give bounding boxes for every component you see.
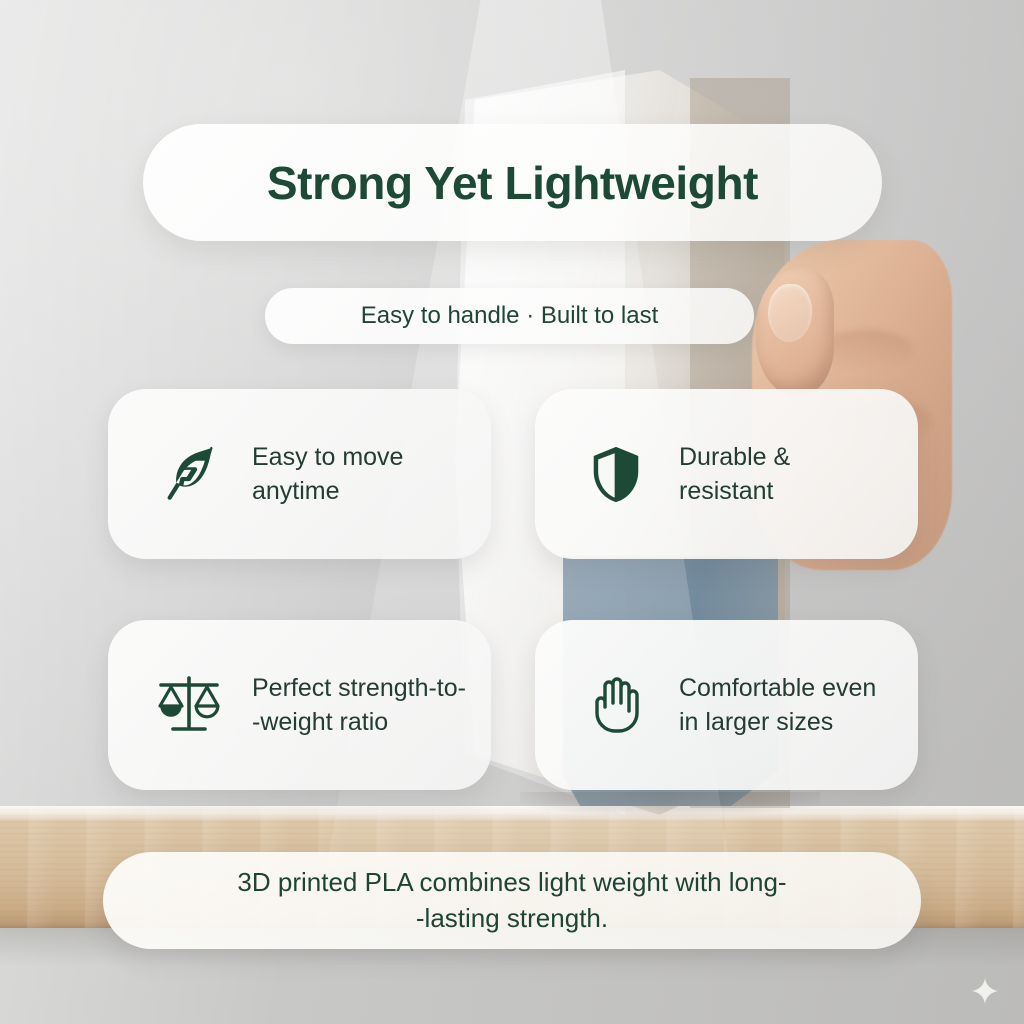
shelf-top-highlight xyxy=(0,806,1024,820)
feather-icon xyxy=(152,437,226,511)
feature-card-strength-to-weight[interactable]: Perfect strength-to- -weight ratio xyxy=(108,620,491,790)
infographic-canvas: Strong Yet Lightweight Easy to handle · … xyxy=(0,0,1024,1024)
feature-card-label: Comfortable even in larger sizes xyxy=(679,671,876,740)
feature-card-label: Perfect strength-to- -weight ratio xyxy=(252,671,466,740)
feature-card-durable[interactable]: Durable & resistant xyxy=(535,389,918,559)
feature-card-label: Durable & resistant xyxy=(679,440,790,509)
sparkle-icon xyxy=(972,978,998,1004)
footer-caption-banner: 3D printed PLA combines light weight wit… xyxy=(103,852,921,949)
feature-card-label: Easy to move anytime xyxy=(252,440,403,509)
feature-card-grid: Easy to move anytime Durable & resistant xyxy=(108,389,918,790)
page-subtitle: Easy to handle · Built to last xyxy=(361,302,659,330)
subtitle-banner: Easy to handle · Built to last xyxy=(265,288,754,344)
page-title: Strong Yet Lightweight xyxy=(267,156,758,210)
footer-caption: 3D printed PLA combines light weight wit… xyxy=(237,865,786,935)
feature-card-easy-to-move[interactable]: Easy to move anytime xyxy=(108,389,491,559)
shield-icon xyxy=(579,437,653,511)
hand-icon xyxy=(579,668,653,742)
printed-object-contact-shadow xyxy=(520,792,820,818)
balance-scale-icon xyxy=(152,668,226,742)
feature-card-comfortable[interactable]: Comfortable even in larger sizes xyxy=(535,620,918,790)
title-banner: Strong Yet Lightweight xyxy=(143,124,882,241)
